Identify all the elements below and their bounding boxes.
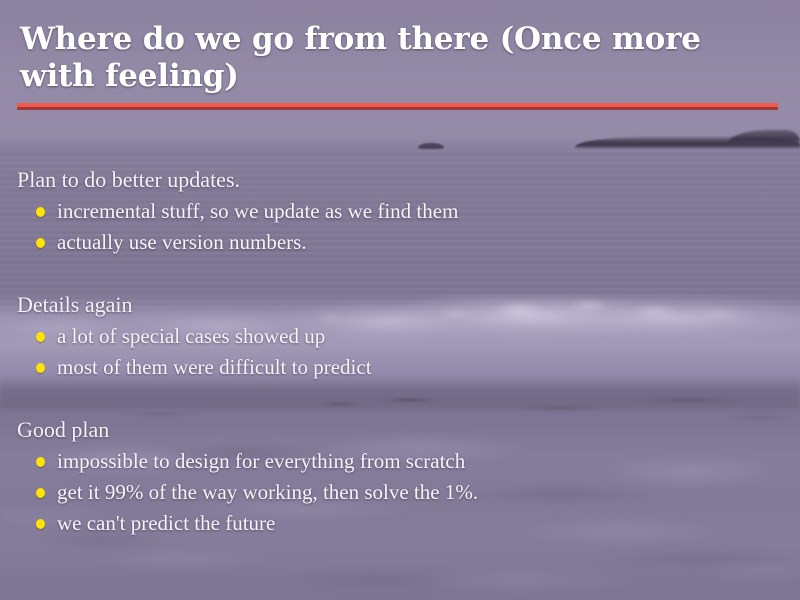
sub-bullet: incremental stuff, so we update as we fi… (0, 196, 800, 227)
sub-bullet: a lot of special cases showed up (0, 321, 800, 352)
sub-bullet: actually use version numbers. (0, 227, 800, 258)
title-underline-rule (17, 103, 778, 107)
bullet-group: Details again a lot of special cases sho… (0, 289, 800, 383)
sub-bullet-label: get it 99% of the way working, then solv… (57, 480, 478, 504)
bullet-dot-icon (36, 519, 45, 529)
slide-body: Plan to do better updates. incremental s… (0, 164, 800, 539)
sub-bullet-label: a lot of special cases showed up (57, 324, 325, 348)
sub-bullet-label: incremental stuff, so we update as we fi… (57, 199, 458, 223)
sub-bullet: get it 99% of the way working, then solv… (0, 477, 800, 508)
sub-bullet: most of them were difficult to predict (0, 352, 800, 383)
bullet-group: Plan to do better updates. incremental s… (0, 164, 800, 258)
slide-title: Where do we go from there (Once more wit… (20, 21, 780, 95)
bullet-dot-icon (36, 488, 45, 498)
bullet-dot-icon (36, 363, 45, 373)
bullet-dot-icon (36, 457, 45, 467)
sub-bullet-label: we can't predict the future (57, 511, 275, 535)
sub-bullet-label: impossible to design for everything from… (57, 449, 465, 473)
sub-bullet: we can't predict the future (0, 508, 800, 539)
section-spacer (0, 383, 800, 414)
sub-bullet: impossible to design for everything from… (0, 446, 800, 477)
lead-bullet: Details again (0, 289, 800, 321)
lead-bullet: Plan to do better updates. (0, 164, 800, 196)
bullet-dot-icon (36, 238, 45, 248)
lead-bullet: Good plan (0, 414, 800, 446)
bullet-dot-icon (36, 207, 45, 217)
sub-bullet-label: most of them were difficult to predict (57, 355, 372, 379)
section-spacer (0, 258, 800, 289)
slide-content: Where do we go from there (Once more wit… (0, 0, 800, 600)
presentation-slide: Where do we go from there (Once more wit… (0, 0, 800, 600)
bullet-group: Good plan impossible to design for every… (0, 414, 800, 539)
sub-bullet-label: actually use version numbers. (57, 230, 307, 254)
bullet-dot-icon (36, 332, 45, 342)
